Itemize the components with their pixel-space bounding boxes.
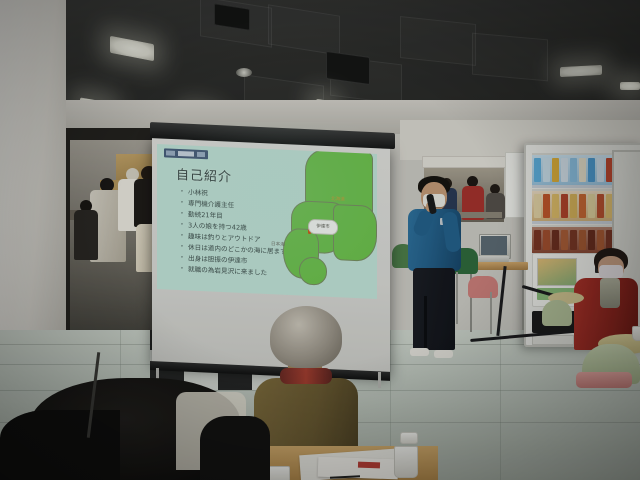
projected-slide: 自己紹介 ・ 小林祝 ・ 専門機介護主任 ・ 勤続21年目 ・ 3人の娘を持つ4… xyxy=(157,144,377,299)
map-landmass xyxy=(299,256,327,285)
slide-title: 自己紹介 xyxy=(176,164,232,186)
presenter xyxy=(404,176,466,364)
bullet-marker-icon: ・ xyxy=(179,188,185,196)
ceiling-light xyxy=(560,65,602,77)
bullet-marker-icon: ・ xyxy=(179,232,185,240)
presenter-shoe xyxy=(434,350,453,358)
bullet-text: 出身は胆振の伊達市 xyxy=(188,254,247,265)
slide-toolbar-artifact xyxy=(164,148,208,159)
chair[interactable] xyxy=(542,300,572,326)
pink-chair[interactable] xyxy=(576,372,632,388)
laptop-base xyxy=(477,256,509,262)
attendee-scarf xyxy=(600,278,620,308)
bullet-marker-icon: ・ xyxy=(179,221,185,229)
table-leg xyxy=(522,270,524,330)
attendee-scarf xyxy=(280,368,332,384)
map-landmass xyxy=(333,204,377,262)
foreground-shadow xyxy=(0,410,120,480)
bullet-marker-icon: ・ xyxy=(179,210,185,218)
map-sea-label: 日本海 xyxy=(271,241,285,248)
chair-leg xyxy=(490,292,492,334)
face-mask-icon xyxy=(599,265,623,278)
bullet-marker-icon: ・ xyxy=(179,199,185,207)
wall-poster xyxy=(505,152,525,218)
ceiling-light xyxy=(620,82,640,90)
drink-cup xyxy=(632,326,640,341)
paper-red-mark xyxy=(358,462,380,469)
chair[interactable] xyxy=(468,276,498,298)
screen-stand-leg xyxy=(378,372,381,388)
foreground-attendee-silhouette xyxy=(200,416,270,480)
slide-map-hokkaido: 伊達市 北海道 日本海 xyxy=(275,155,375,296)
bullet-marker-icon: ・ xyxy=(179,254,185,262)
floor-cup xyxy=(400,432,418,444)
bullet-marker-icon: ・ xyxy=(179,243,185,251)
drink-cup xyxy=(268,466,290,480)
ceiling-light xyxy=(110,36,154,62)
laptop-screen xyxy=(481,236,507,255)
ceiling-vent xyxy=(326,51,370,85)
bullet-text: 就職の為岩見沢に来ました xyxy=(188,265,267,277)
bullet-text: 勤続21年目 xyxy=(188,210,223,220)
smoke-detector-icon xyxy=(236,68,252,77)
bullet-text: 趣味は釣りとアウトドア xyxy=(188,232,261,243)
map-region-label: 北海道 xyxy=(331,196,345,203)
map-callout-label: 伊達市 xyxy=(308,219,338,235)
bullet-text: 小林祝 xyxy=(188,188,208,197)
vending-base xyxy=(532,335,574,345)
rear-doorway-header xyxy=(422,156,508,168)
attendee-hair xyxy=(270,306,342,368)
bullet-text: 専門機介護主任 xyxy=(188,199,234,209)
presenter-legs xyxy=(413,268,455,350)
presenter-shoe xyxy=(410,348,429,356)
vending-display xyxy=(537,258,577,286)
leg-gap xyxy=(424,296,427,350)
drink-cup xyxy=(394,446,418,478)
bullet-text: 3人の娘を持つ42歳 xyxy=(188,221,247,232)
bullet-marker-icon: ・ xyxy=(179,265,185,273)
photo-scene: 自己紹介 ・ 小林祝 ・ 専門機介護主任 ・ 勤続21年目 ・ 3人の娘を持つ4… xyxy=(0,0,640,480)
seated-attendee-right xyxy=(572,248,640,380)
